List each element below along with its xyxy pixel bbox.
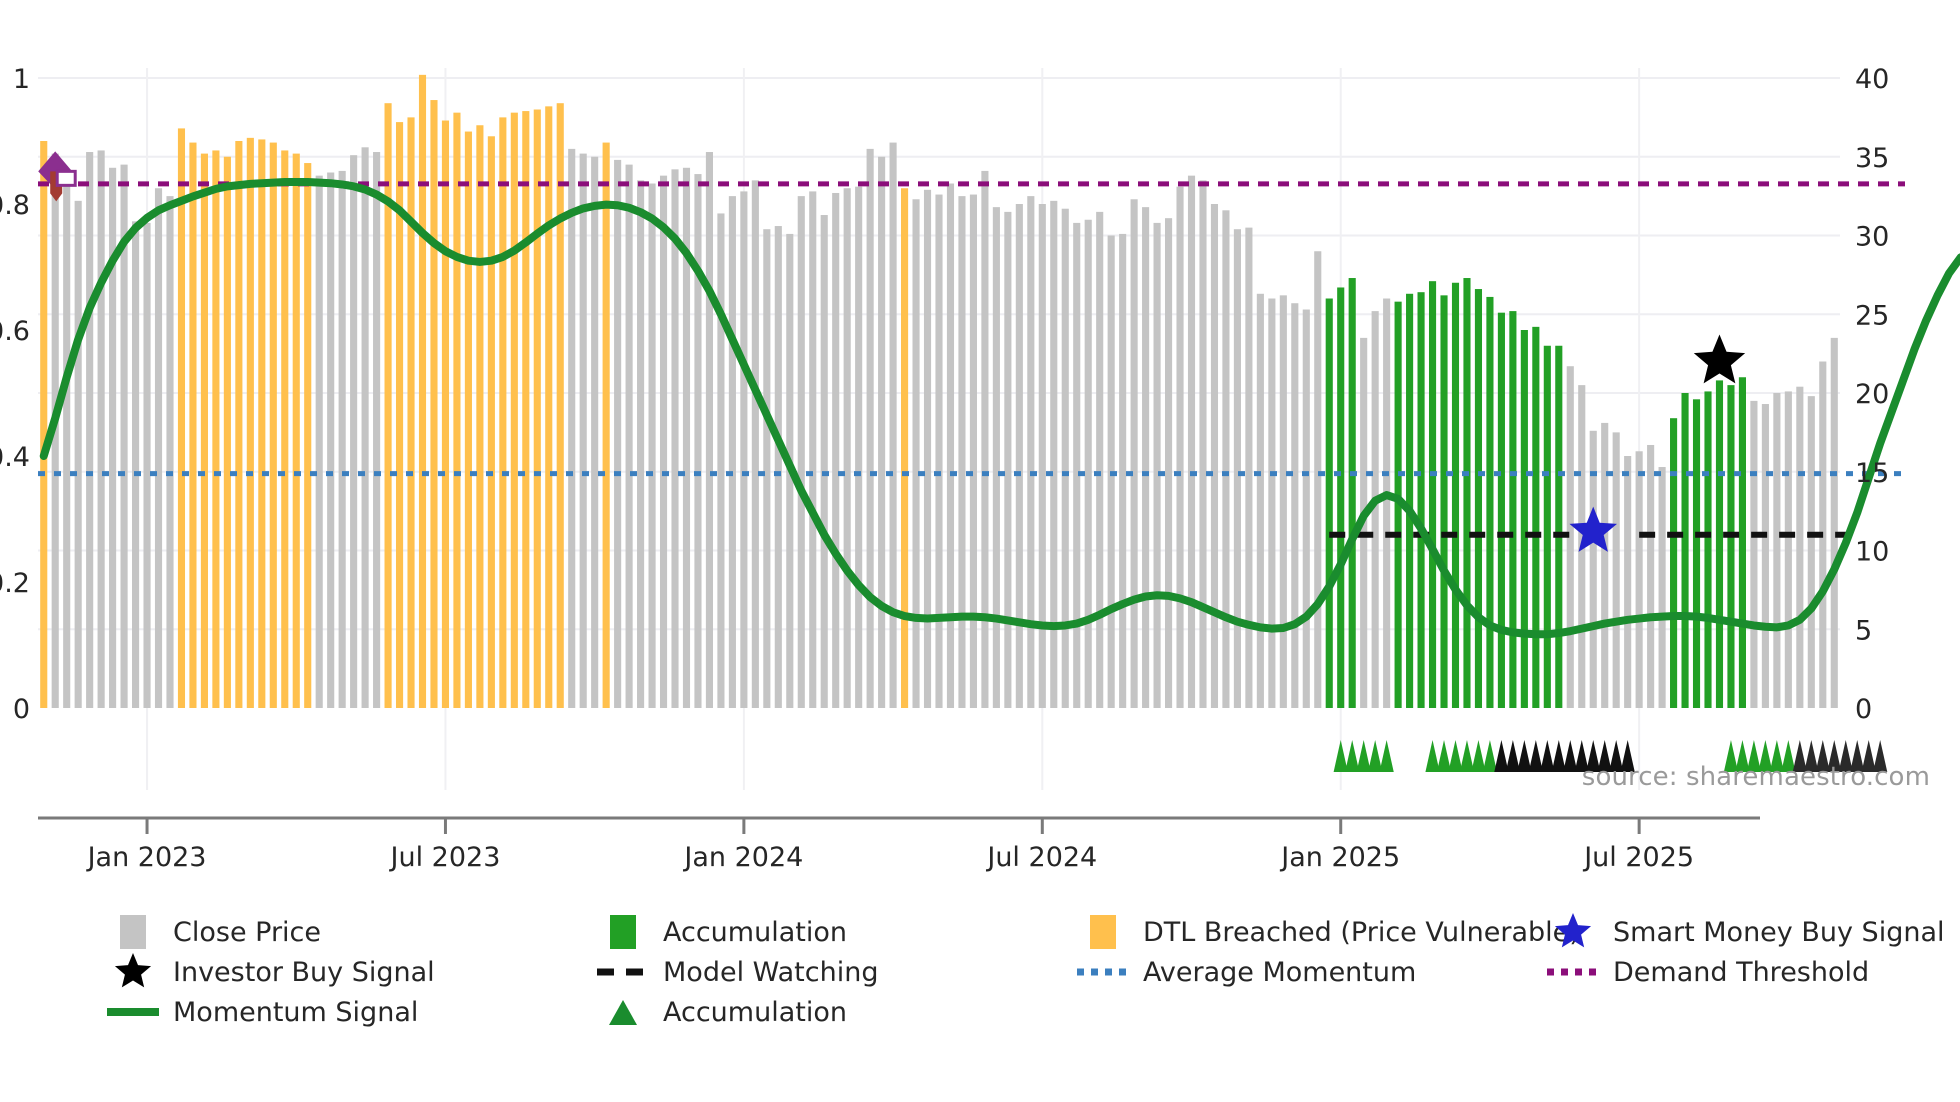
accumulation-triangle-swatch — [603, 995, 643, 1029]
close-price-swatch — [120, 915, 146, 949]
price-bar — [1601, 423, 1608, 708]
price-bar — [1027, 196, 1034, 708]
accumulation-triangle — [1334, 740, 1348, 772]
price-bar — [281, 150, 288, 708]
right-tick-label: 0 — [1855, 694, 1872, 725]
price-bar — [476, 125, 483, 708]
x-tick-label: Jan 2023 — [86, 842, 207, 873]
price-bar — [1154, 223, 1161, 708]
legend-item-demand-threshold[interactable]: Demand Threshold — [1545, 952, 1869, 992]
price-bar — [511, 113, 518, 708]
price-bar — [958, 196, 965, 708]
price-bar — [660, 176, 667, 708]
right-tick-label: 15 — [1855, 458, 1889, 489]
price-bar — [75, 201, 82, 708]
x-tick-label: Jul 2023 — [389, 842, 501, 873]
momentum-signal-icon — [105, 1003, 161, 1021]
price-bar — [1131, 199, 1138, 708]
price-bar — [1406, 294, 1413, 708]
price-bar — [775, 226, 782, 708]
price-bar — [1303, 310, 1310, 708]
price-bar — [1245, 228, 1252, 708]
price-bar — [1636, 451, 1643, 708]
price-bar — [890, 143, 897, 708]
left-tick-label: 0 — [13, 694, 30, 725]
price-bar — [258, 139, 265, 708]
price-bar — [385, 103, 392, 708]
white-box-marker — [57, 171, 75, 185]
price-bar — [1613, 432, 1620, 708]
price-bar — [247, 138, 254, 708]
smart-money-buy-signal-icon — [1545, 913, 1601, 951]
accumulation-triangle — [1483, 740, 1497, 772]
price-bar — [63, 171, 70, 708]
legend-label: DTL Breached (Price Vulnerable) — [1143, 917, 1580, 948]
left-tick-label: 0.8 — [0, 190, 30, 221]
legend-item-dtl-breached[interactable]: DTL Breached (Price Vulnerable) — [1075, 912, 1580, 952]
accumulation-triangle — [1357, 740, 1371, 772]
accumulation-triangle — [1540, 740, 1554, 772]
price-bar — [1326, 299, 1333, 709]
price-bar — [1670, 418, 1677, 708]
accumulation-triangle — [1529, 740, 1543, 772]
price-bar — [1119, 234, 1126, 708]
investor-buy-signal-swatch — [113, 953, 153, 991]
right-tick-label: 20 — [1855, 379, 1889, 410]
price-bar — [1727, 385, 1734, 708]
price-bar — [488, 136, 495, 708]
price-bar — [419, 75, 426, 708]
price-bar — [1062, 209, 1069, 708]
price-bar — [1291, 303, 1298, 708]
price-bar — [1796, 387, 1803, 708]
price-bar — [1831, 338, 1838, 708]
price-bar — [1165, 218, 1172, 708]
right-tick-label: 10 — [1855, 537, 1889, 568]
accumulation-bar-swatch — [610, 915, 636, 949]
demand-threshold-swatch — [1545, 963, 1601, 981]
left-tick-label: 0.6 — [0, 316, 30, 347]
price-bar — [729, 196, 736, 708]
price-bar — [1681, 393, 1688, 708]
price-bar — [1314, 251, 1321, 708]
price-bar — [935, 195, 942, 708]
right-tick-label: 30 — [1855, 222, 1889, 253]
price-bar — [821, 215, 828, 708]
price-bar — [155, 188, 162, 708]
price-bar — [1647, 445, 1654, 708]
price-bar — [362, 147, 369, 708]
price-bar — [855, 187, 862, 708]
price-bar — [86, 152, 93, 708]
price-bar — [212, 150, 219, 708]
legend-label: Smart Money Buy Signal — [1613, 917, 1945, 948]
price-bar — [1073, 223, 1080, 708]
legend-item-accumulation-triangle[interactable]: Accumulation — [595, 992, 847, 1032]
left-tick-label: 0.2 — [0, 568, 30, 599]
momentum-signal-swatch — [105, 1003, 161, 1021]
price-bar — [1739, 377, 1746, 708]
legend-item-model-watching[interactable]: Model Watching — [595, 952, 878, 992]
investor-buy-signal-star — [1694, 335, 1745, 384]
price-bar — [1624, 456, 1631, 708]
x-tick-label: Jul 2024 — [985, 842, 1097, 873]
price-bar — [1693, 399, 1700, 708]
price-bar — [694, 174, 701, 708]
price-bar — [1222, 210, 1229, 708]
price-bar — [522, 111, 529, 708]
price-bar — [1418, 292, 1425, 708]
price-bar — [1039, 204, 1046, 708]
legend-label: Momentum Signal — [173, 997, 418, 1028]
price-bar — [143, 223, 150, 708]
right-axis-ticks: 0510152025303540 — [1855, 64, 1889, 725]
price-bar — [1234, 229, 1241, 708]
price-bar — [1544, 346, 1551, 708]
price-bar — [970, 195, 977, 708]
price-bar — [534, 110, 541, 709]
price-bar — [1349, 278, 1356, 708]
x-axis-ticks: Jan 2023Jul 2023Jan 2024Jul 2024Jan 2025… — [86, 818, 1695, 873]
price-bar — [1555, 346, 1562, 708]
legend-item-average-momentum[interactable]: Average Momentum — [1075, 952, 1416, 992]
left-tick-label: 1 — [13, 64, 30, 95]
legend-item-smart-money-buy-signal[interactable]: Smart Money Buy Signal — [1545, 912, 1945, 952]
legend-label: Investor Buy Signal — [173, 957, 435, 988]
right-tick-label: 35 — [1855, 143, 1889, 174]
demand-threshold-icon — [1545, 963, 1601, 981]
price-bar — [40, 141, 47, 708]
price-bar — [1750, 401, 1757, 708]
price-bar — [637, 180, 644, 708]
accumulation-triangle — [1563, 740, 1577, 772]
price-bar — [981, 171, 988, 708]
price-bar — [1498, 313, 1505, 708]
price-bar — [1716, 380, 1723, 708]
price-bar — [1475, 289, 1482, 708]
price-bar — [270, 143, 277, 708]
accumulation-triangle — [1506, 740, 1520, 772]
legend-item-close-price[interactable]: Close Price — [105, 912, 321, 952]
price-bar — [1773, 393, 1780, 708]
price-bar — [1659, 467, 1666, 708]
right-tick-label: 25 — [1855, 300, 1889, 331]
price-bar — [1509, 311, 1516, 708]
price-bar — [1096, 212, 1103, 708]
price-bar — [465, 132, 472, 708]
price-bar — [1004, 212, 1011, 708]
model-watching-icon — [595, 963, 651, 981]
price-bar — [430, 100, 437, 708]
legend-label: Model Watching — [663, 957, 878, 988]
price-bar — [901, 188, 908, 708]
price-bar — [442, 121, 449, 708]
price-bar — [293, 154, 300, 708]
price-bar — [832, 193, 839, 708]
price-bar — [626, 165, 633, 708]
price-bar — [1704, 391, 1711, 708]
price-bar — [580, 154, 587, 708]
price-bar — [235, 141, 242, 708]
price-bar — [1280, 295, 1287, 708]
price-bar — [912, 199, 919, 708]
price-bar — [189, 143, 196, 708]
price-bar — [1257, 294, 1264, 708]
accumulation-triangle-icon — [595, 995, 651, 1029]
legend-item-accumulation-bar[interactable]: Accumulation — [595, 912, 847, 952]
price-bar — [1050, 201, 1057, 708]
price-bar — [327, 173, 334, 709]
price-bar — [339, 171, 346, 708]
price-bar — [1440, 295, 1447, 708]
bar-series — [40, 75, 1838, 708]
price-bar — [166, 196, 173, 708]
legend-item-investor-buy-signal[interactable]: Investor Buy Signal — [105, 952, 435, 992]
right-tick-label: 40 — [1855, 64, 1889, 95]
close-price-icon — [105, 915, 161, 949]
accumulation-triangle — [1552, 740, 1566, 772]
source-attribution: source: sharemaestro.com — [1582, 762, 1930, 792]
price-bar — [947, 184, 954, 708]
left-tick-label: 0.4 — [0, 442, 30, 473]
smart-money-buy-signal-swatch — [1553, 913, 1593, 951]
price-bar — [763, 229, 770, 708]
legend-item-momentum-signal[interactable]: Momentum Signal — [105, 992, 418, 1032]
price-bar — [350, 155, 357, 708]
price-bar — [752, 180, 759, 708]
price-bar — [717, 213, 724, 708]
price-bar — [1142, 207, 1149, 708]
price-bar — [109, 168, 116, 708]
chart-legend: Close PriceAccumulationDTL Breached (Pri… — [0, 912, 1960, 1062]
price-bar — [1808, 396, 1815, 708]
accumulation-triangle — [1380, 740, 1394, 772]
price-bar — [316, 176, 323, 708]
price-bar — [201, 154, 208, 708]
price-bar — [867, 149, 874, 708]
dtl-breached-icon — [1075, 915, 1131, 949]
price-bar — [1085, 220, 1092, 708]
x-tick-label: Jan 2024 — [682, 842, 803, 873]
legend-label: Accumulation — [663, 917, 847, 948]
legend-label: Demand Threshold — [1613, 957, 1869, 988]
price-bar — [132, 221, 139, 708]
price-bar — [671, 169, 678, 708]
price-bar — [1337, 287, 1344, 708]
average-momentum-icon — [1075, 963, 1131, 981]
accumulation-triangle — [1460, 740, 1474, 772]
model-watching-swatch — [595, 963, 651, 981]
accumulation-triangle — [1345, 740, 1359, 772]
accumulation-triangle — [1448, 740, 1462, 772]
price-bar — [648, 184, 655, 708]
price-bar — [407, 117, 414, 708]
price-bar — [1452, 283, 1459, 708]
accumulation-triangle — [1425, 740, 1439, 772]
legend-label: Close Price — [173, 917, 321, 948]
price-bar — [844, 188, 851, 708]
legend-label: Average Momentum — [1143, 957, 1416, 988]
legend-label: Accumulation — [663, 997, 847, 1028]
chart-root: Jan 2023Jul 2023Jan 2024Jul 2024Jan 2025… — [0, 0, 1960, 1102]
average-momentum-swatch — [1075, 963, 1131, 981]
accumulation-triangle — [1517, 740, 1531, 772]
dtl-breached-swatch — [1090, 915, 1116, 949]
price-bar — [1785, 391, 1792, 708]
price-bar — [1016, 204, 1023, 708]
price-bar — [1211, 204, 1218, 708]
right-tick-label: 5 — [1855, 615, 1872, 646]
price-bar — [568, 149, 575, 708]
price-bar — [499, 117, 506, 708]
accumulation-triangle — [1471, 740, 1485, 772]
price-bar — [545, 106, 552, 708]
price-bar — [1199, 180, 1206, 708]
investor-buy-signal-icon — [105, 953, 161, 991]
price-bar — [1188, 176, 1195, 708]
price-bar — [1176, 187, 1183, 708]
left-axis-ticks: 00.20.40.60.81 — [0, 64, 30, 725]
price-bar — [591, 157, 598, 708]
price-bar — [1532, 327, 1539, 708]
price-bar — [809, 191, 816, 708]
price-bar — [878, 157, 885, 708]
price-bar — [740, 191, 747, 708]
price-bar — [453, 113, 460, 708]
price-bar — [798, 196, 805, 708]
price-bar — [304, 163, 311, 708]
price-bar — [1383, 299, 1390, 709]
price-bar — [706, 152, 713, 708]
price-bar — [603, 143, 610, 708]
price-bar — [98, 150, 105, 708]
price-bar — [1521, 330, 1528, 708]
accumulation-triangle — [1494, 740, 1508, 772]
accumulation-triangle — [1368, 740, 1382, 772]
price-bar — [614, 160, 621, 708]
price-bar — [1429, 281, 1436, 708]
price-bar — [1762, 404, 1769, 708]
x-tick-label: Jul 2025 — [1582, 842, 1694, 873]
price-bar — [557, 103, 564, 708]
accumulation-triangle — [1437, 740, 1451, 772]
price-bar — [1486, 297, 1493, 708]
price-bar — [924, 190, 931, 708]
accumulation-bar-icon — [595, 915, 651, 949]
price-bar — [993, 207, 1000, 708]
price-bar — [1463, 278, 1470, 708]
x-tick-label: Jan 2025 — [1279, 842, 1400, 873]
price-bar — [224, 157, 231, 708]
price-bar — [1268, 299, 1275, 709]
price-bar — [373, 152, 380, 708]
price-bar — [178, 128, 185, 708]
